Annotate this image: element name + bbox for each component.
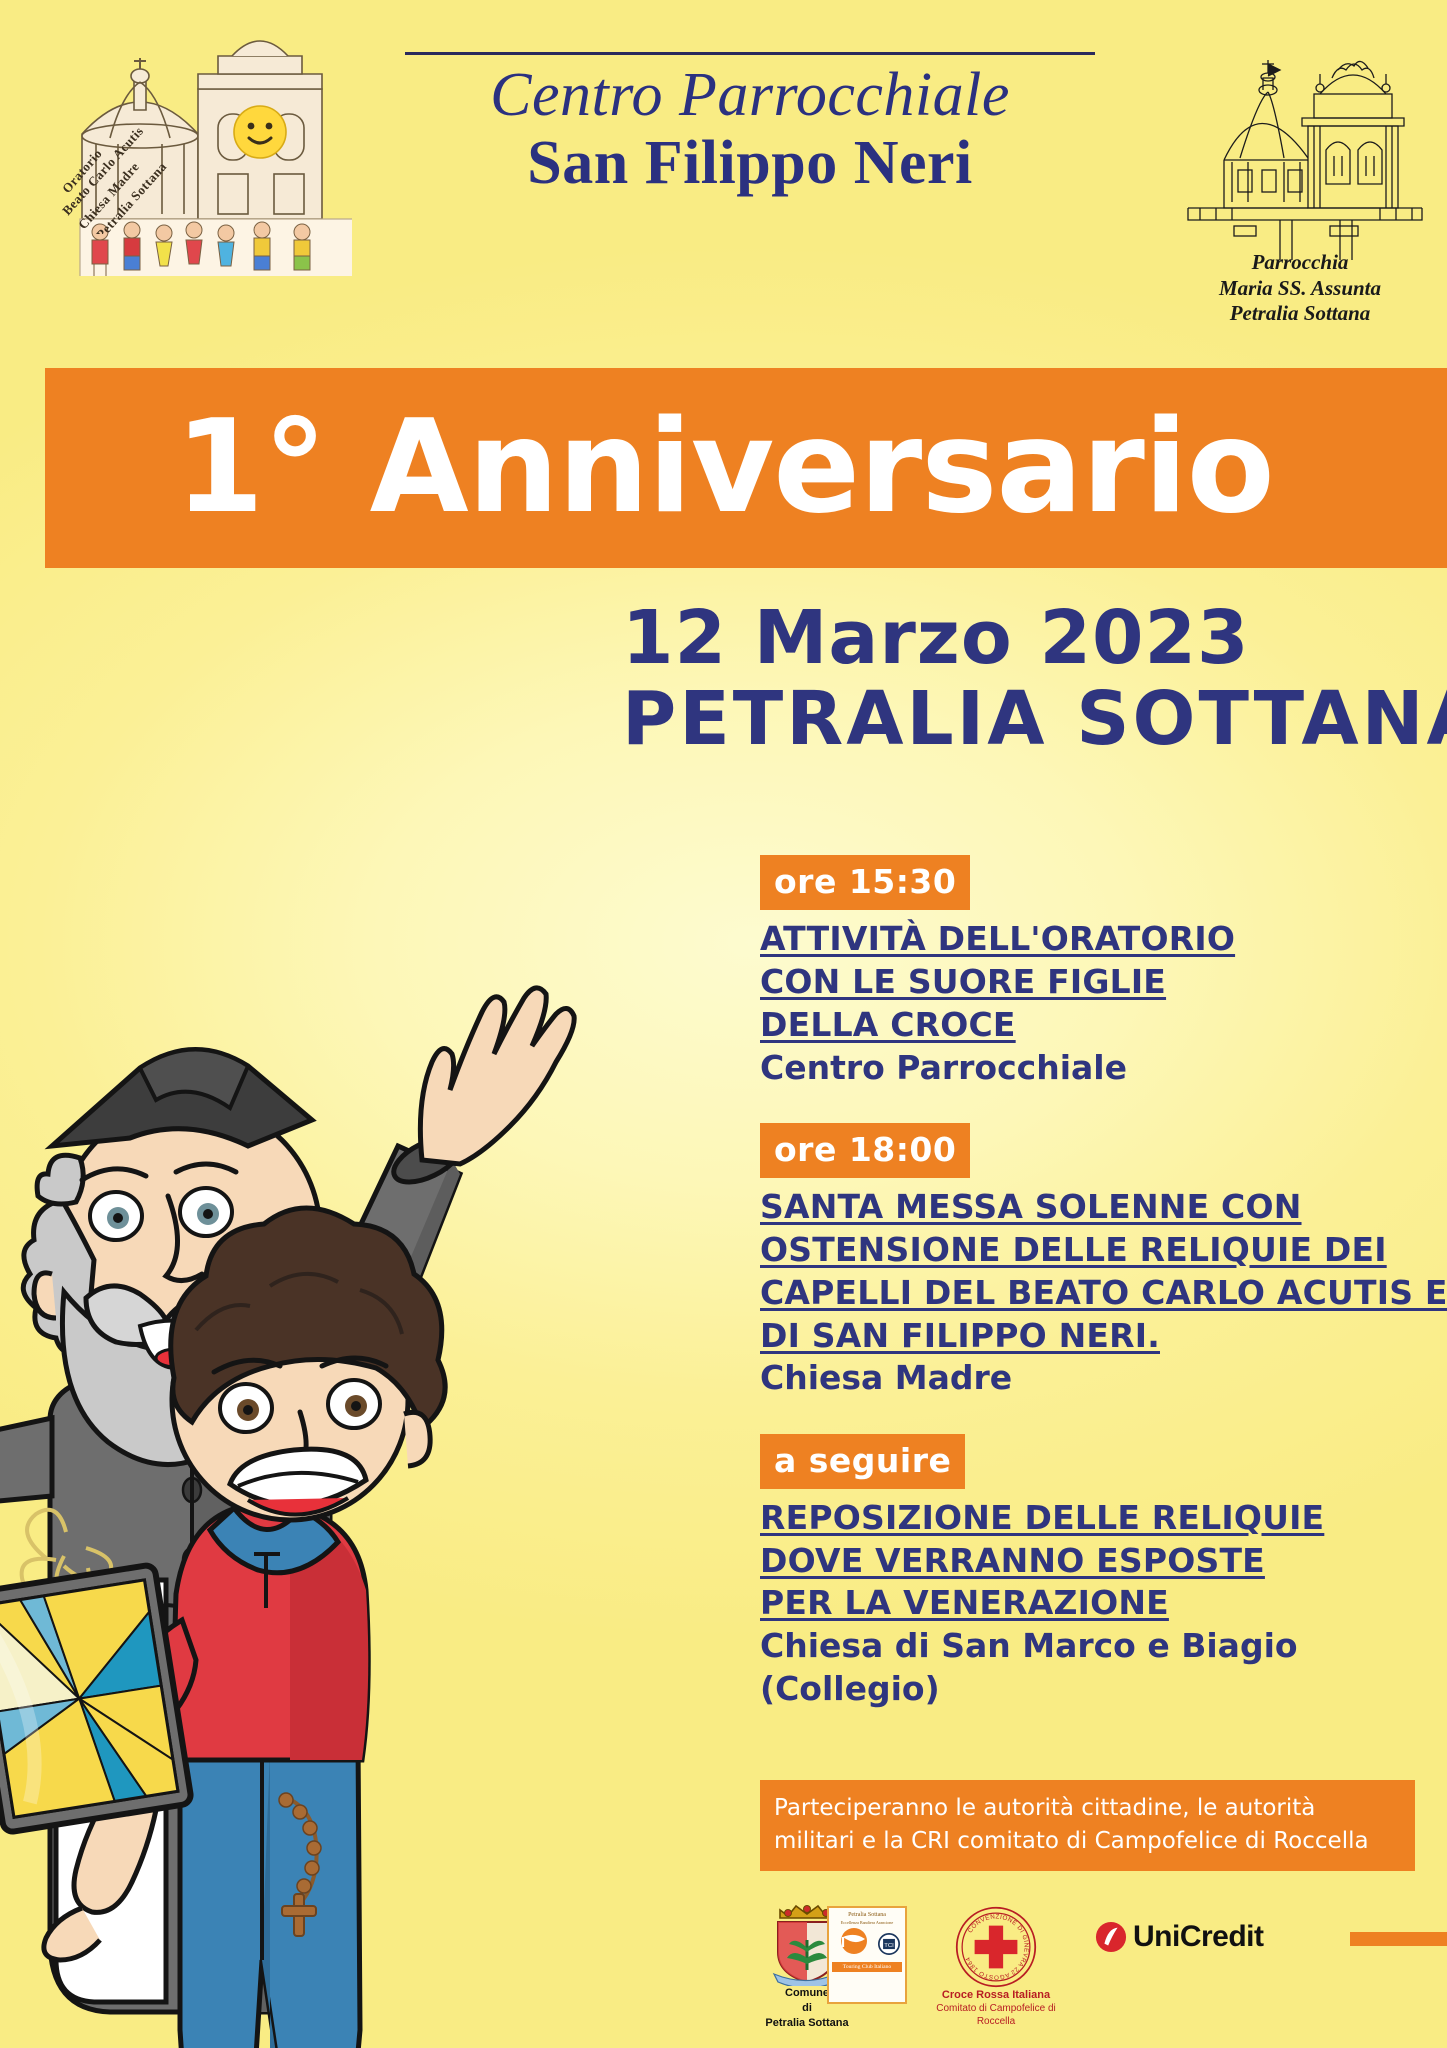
touring-bottom: Touring Club Italiano — [832, 1962, 902, 1972]
schedule-line: ATTIVITÀ DELL'ORATORIO — [760, 918, 1400, 961]
unicredit-mark-icon — [1095, 1921, 1127, 1953]
schedule-line: CON LE SUORE FIGLIE — [760, 961, 1400, 1004]
touring-top: Petralia Sottana — [832, 1912, 902, 1920]
event-date-block: 12 Marzo 2023 PETRALIA SOTTANA — [622, 600, 1382, 761]
orange-rule — [1350, 1932, 1447, 1946]
cri-name: Croce Rossa Italiana — [942, 1989, 1050, 2001]
smiley-sun-icon — [234, 106, 286, 158]
cri-sub: Comitato di Campofelice di Roccella — [936, 2003, 1056, 2027]
anniversary-banner: 1° Anniversario — [45, 368, 1447, 568]
anniversary-banner-text: 1° Anniversario — [175, 404, 1274, 532]
red-cross-icon: CONVENZIONE DI GINEVRA 22 AGOSTO 1864 — [955, 1906, 1037, 1988]
schedule-place: Chiesa di San Marco e Biagio — [760, 1625, 1400, 1667]
schedule-item: ore 18:00 SANTA MESSA SOLENNE CON OSTENS… — [760, 1123, 1400, 1400]
title-divider — [405, 52, 1095, 55]
schedule-place: Chiesa Madre — [760, 1357, 1400, 1399]
cri-caption: Croce Rossa Italiana Comitato di Campofe… — [931, 1988, 1061, 2028]
schedule-line: PER LA VENERAZIONE — [760, 1582, 1400, 1625]
event-date: 12 Marzo 2023 — [622, 600, 1382, 678]
unicredit-wordmark: UniCredit — [1133, 1920, 1264, 1954]
poster-title-block: Centro Parrocchiale San Filippo Neri — [360, 52, 1140, 242]
parrocchia-logo — [1180, 30, 1430, 280]
tablet-device — [0, 1564, 192, 1833]
event-town: PETRALIA SOTTANA — [622, 678, 1382, 761]
touring-plaque: Petralia Sottana Eccellenza Bandiera Ara… — [827, 1906, 907, 2004]
oratorio-logo: Oratorio Beato Carlo Acutis Chiesa Madre… — [22, 14, 352, 276]
schedule-item-lines: SANTA MESSA SOLENNE CON OSTENSIONE DELLE… — [760, 1186, 1400, 1400]
parrocchia-caption-line-2: Maria SS. Assunta — [1150, 276, 1447, 302]
parrocchia-church-drawing — [1180, 30, 1430, 260]
oratorio-logo-drawing — [22, 14, 352, 276]
parrocchia-caption-line-1: Parrocchia — [1150, 250, 1447, 276]
orange-flag-icon — [834, 1927, 874, 1955]
comune-line-1: Comune — [785, 1987, 829, 1999]
touring-sub: Eccellenza Bandiera Arancione — [832, 1920, 902, 1925]
schedule-line: REPOSIZIONE DELLE RELIQUIE — [760, 1497, 1400, 1540]
sponsor-logos: Comune di Petralia Sottana Petralia Sott… — [735, 1892, 1435, 2032]
time-badge: ore 15:30 — [760, 855, 970, 910]
schedule-item-lines: ATTIVITÀ DELL'ORATORIO CON LE SUORE FIGL… — [760, 918, 1400, 1089]
unicredit-logo: UniCredit — [1095, 1920, 1264, 1954]
schedule-line: OSTENSIONE DELLE RELIQUIE DEI — [760, 1229, 1400, 1272]
svg-text:TCI: TCI — [884, 1943, 894, 1949]
schedule-line: DELLA CROCE — [760, 1004, 1400, 1047]
comune-line-3: Petralia Sottana — [765, 2017, 848, 2029]
saint-and-boy-illustration — [0, 560, 610, 2048]
schedule-place: Centro Parrocchiale — [760, 1047, 1400, 1089]
title-line-1: Centro Parrocchiale — [360, 63, 1140, 128]
croce-rossa-logo: CONVENZIONE DI GINEVRA 22 AGOSTO 1864 Cr… — [931, 1906, 1061, 2028]
schedule-item-lines: REPOSIZIONE DELLE RELIQUIE DOVE VERRANNO… — [760, 1497, 1400, 1710]
time-badge: a seguire — [760, 1434, 965, 1489]
poster-header: Oratorio Beato Carlo Acutis Chiesa Madre… — [0, 0, 1447, 368]
schedule-list: ore 15:30 ATTIVITÀ DELL'ORATORIO CON LE … — [760, 855, 1400, 1744]
poster-root: Oratorio Beato Carlo Acutis Chiesa Madre… — [0, 0, 1447, 2048]
title-line-2: San Filippo Neri — [360, 128, 1140, 199]
schedule-item: a seguire REPOSIZIONE DELLE RELIQUIE DOV… — [760, 1434, 1400, 1710]
tci-badge-icon: TCI — [878, 1933, 900, 1955]
schedule-line: CAPELLI DEL BEATO CARLO ACUTIS E — [760, 1272, 1400, 1315]
schedule-line: DI SAN FILIPPO NERI. — [760, 1315, 1400, 1358]
comune-line-2: di — [802, 2002, 812, 2014]
schedule-place-2: (Collegio) — [760, 1668, 1400, 1710]
schedule-line: DOVE VERRANNO ESPOSTE — [760, 1540, 1400, 1583]
authorities-note: Parteciperanno le autorità cittadine, le… — [760, 1780, 1415, 1871]
touring-club-logo: Petralia Sottana Eccellenza Bandiera Ara… — [827, 1906, 911, 2004]
schedule-item: ore 15:30 ATTIVITÀ DELL'ORATORIO CON LE … — [760, 855, 1400, 1089]
parrocchia-caption-line-3: Petralia Sottana — [1150, 301, 1447, 327]
parrocchia-caption: Parrocchia Maria SS. Assunta Petralia So… — [1150, 250, 1447, 327]
time-badge: ore 18:00 — [760, 1123, 970, 1178]
schedule-line: SANTA MESSA SOLENNE CON — [760, 1186, 1400, 1229]
